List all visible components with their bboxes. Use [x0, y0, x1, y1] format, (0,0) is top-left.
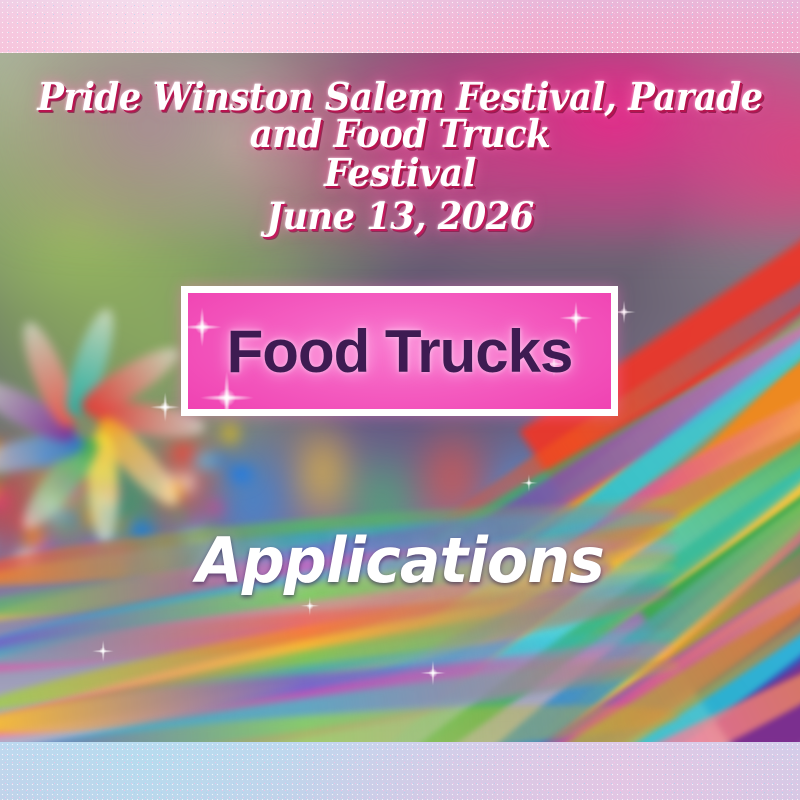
glitter-band-bottom [0, 742, 800, 800]
glitter-band-top [0, 0, 800, 53]
headline-line-2: Festival [28, 154, 773, 191]
poster-headline: Pride Winston Salem Festival, Parade and… [0, 78, 800, 234]
glitter-speckle-top [0, 0, 800, 53]
headline-line-1: Pride Winston Salem Festival, Parade and… [35, 78, 764, 152]
glitter-speckle-bottom [0, 742, 800, 800]
sparkle-icon [182, 307, 222, 347]
pride-festival-poster: Pride Winston Salem Festival, Parade and… [0, 0, 800, 800]
food-trucks-label: Food Trucks [227, 317, 573, 386]
food-trucks-badge: Food Trucks [181, 286, 618, 416]
applications-subtitle: Applications [12, 524, 788, 597]
event-date: June 13, 2026 [28, 198, 773, 234]
